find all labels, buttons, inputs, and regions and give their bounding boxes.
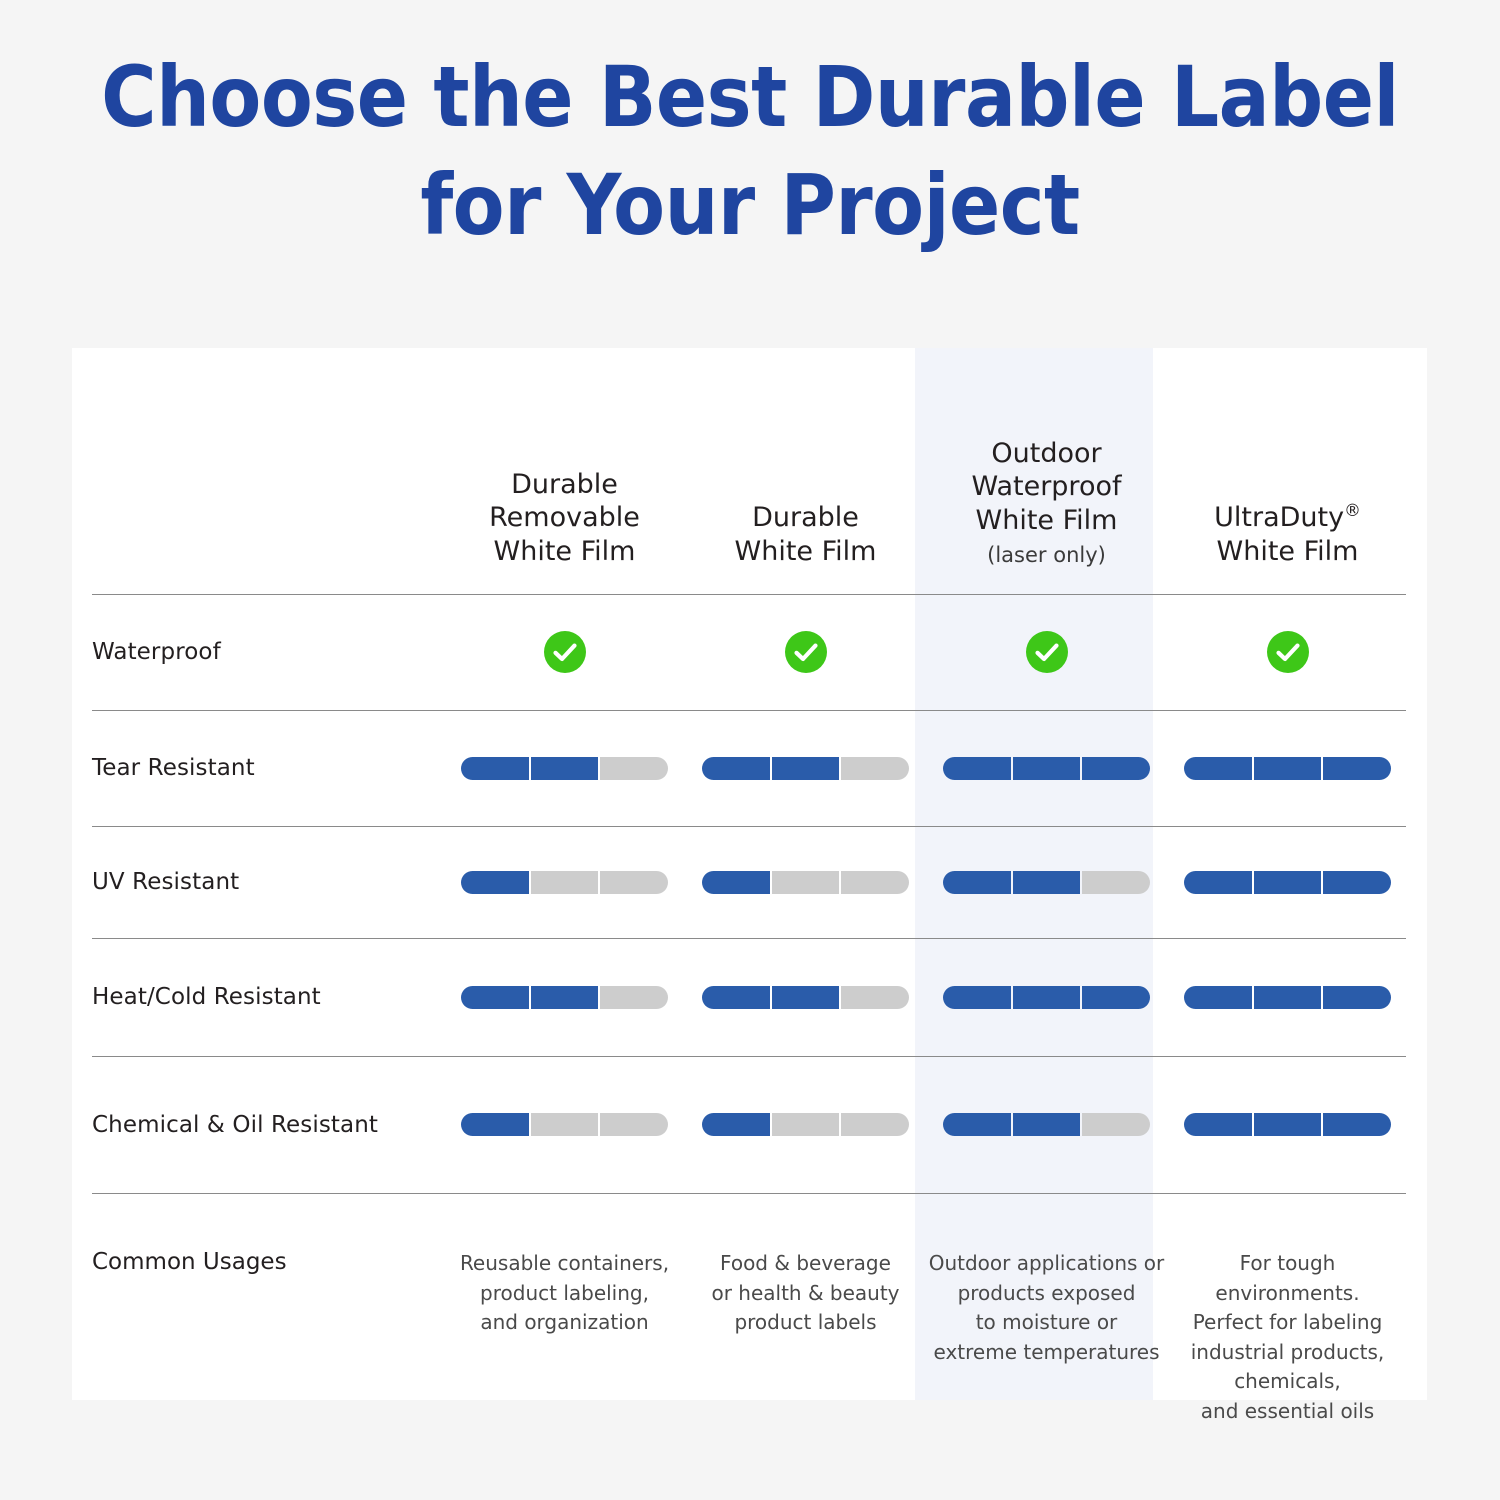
cell-heat-cold-resistant-col3 (926, 986, 1167, 1009)
cell-chemical-oil-resistant-col2 (685, 1113, 926, 1136)
row-label-heat-cold-resistant: Heat/Cold Resistant (92, 984, 444, 1010)
cell-waterproof-col4 (1167, 631, 1408, 673)
cell-uv-resistant-col4 (1167, 871, 1408, 894)
rating-bar (702, 757, 909, 780)
check-circle-icon (544, 631, 586, 673)
rating-bar (461, 871, 668, 894)
rating-bar (1184, 1113, 1391, 1136)
comparison-infographic: Choose the Best Durable Label for Your P… (0, 0, 1500, 1500)
column-header-line: White Film (735, 536, 877, 567)
column-header-line: Outdoor (991, 438, 1101, 469)
row-label-tear-resistant: Tear Resistant (92, 755, 444, 781)
cell-heat-cold-resistant-col1 (444, 986, 685, 1009)
comparison-table-card: Durable Removable White Film Durable Whi… (72, 348, 1427, 1400)
cell-tear-resistant-col2 (685, 757, 926, 780)
row-label-uv-resistant: UV Resistant (92, 869, 444, 895)
page-title: Choose the Best Durable Label for Your P… (0, 44, 1500, 259)
row-label-common-usages: Common Usages (92, 1193, 444, 1275)
cell-tear-resistant-col4 (1167, 757, 1408, 780)
rating-bar (943, 986, 1150, 1009)
rating-bar (943, 1113, 1150, 1136)
cell-heat-cold-resistant-col4 (1167, 986, 1408, 1009)
table-row-uv-resistant: UV Resistant (92, 826, 1406, 938)
cell-waterproof-col1 (444, 631, 685, 673)
page-title-line-1: Choose the Best Durable Label (0, 44, 1500, 152)
check-circle-icon (1026, 631, 1068, 673)
cell-common-usages-col1: Reusable containers, product labeling, a… (444, 1193, 685, 1338)
cell-chemical-oil-resistant-col1 (444, 1113, 685, 1136)
row-label-waterproof: Waterproof (92, 639, 444, 665)
column-header-line: White Film (494, 536, 636, 567)
column-header-note: (laser only) (926, 542, 1167, 568)
rating-bar (702, 986, 909, 1009)
cell-waterproof-col2 (685, 631, 926, 673)
rating-bar (1184, 757, 1391, 780)
row-label-chemical-oil-resistant: Chemical & Oil Resistant (92, 1112, 444, 1138)
page-title-line-2: for Your Project (0, 152, 1500, 260)
cell-tear-resistant-col1 (444, 757, 685, 780)
rating-bar (702, 1113, 909, 1136)
table-row-common-usages: Common Usages Reusable containers, produ… (92, 1193, 1406, 1427)
rating-bar (702, 871, 909, 894)
rating-bar (461, 1113, 668, 1136)
column-header-line: Durable (752, 502, 859, 533)
column-header-line: Waterproof (971, 471, 1121, 502)
column-header-durable-removable-white-film: Durable Removable White Film (444, 468, 685, 594)
table-row-tear-resistant: Tear Resistant (92, 710, 1406, 826)
cell-uv-resistant-col3 (926, 871, 1167, 894)
check-circle-icon (1267, 631, 1309, 673)
cell-uv-resistant-col1 (444, 871, 685, 894)
table-row-waterproof: Waterproof (92, 594, 1406, 710)
rating-bar (943, 757, 1150, 780)
cell-uv-resistant-col2 (685, 871, 926, 894)
rating-bar (943, 871, 1150, 894)
rating-bar (1184, 986, 1391, 1009)
rating-bar (461, 757, 668, 780)
table-row-chemical-oil-resistant: Chemical & Oil Resistant (92, 1056, 1406, 1193)
column-header-ultraduty-white-film: UltraDuty® White Film (1167, 501, 1408, 594)
rating-bar (461, 986, 668, 1009)
column-header-line: UltraDuty® (1214, 502, 1361, 533)
column-header-line: White Film (976, 505, 1118, 536)
cell-chemical-oil-resistant-col4 (1167, 1113, 1408, 1136)
cell-chemical-oil-resistant-col3 (926, 1113, 1167, 1136)
cell-tear-resistant-col3 (926, 757, 1167, 780)
comparison-table: Durable Removable White Film Durable Whi… (72, 348, 1427, 1400)
column-header-outdoor-waterproof-white-film: Outdoor Waterproof White Film (laser onl… (926, 437, 1167, 594)
column-header-line: Durable Removable (489, 469, 640, 533)
check-circle-icon (785, 631, 827, 673)
cell-waterproof-col3 (926, 631, 1167, 673)
cell-common-usages-col3: Outdoor applications or products exposed… (926, 1193, 1167, 1367)
rating-bar (1184, 871, 1391, 894)
table-header-row: Durable Removable White Film Durable Whi… (92, 378, 1406, 594)
cell-common-usages-col4: For tough environments. Perfect for labe… (1167, 1193, 1408, 1427)
table-row-heat-cold-resistant: Heat/Cold Resistant (92, 938, 1406, 1056)
cell-common-usages-col2: Food & beverage or health & beauty produ… (685, 1193, 926, 1338)
column-header-line: White Film (1217, 536, 1359, 567)
cell-heat-cold-resistant-col2 (685, 986, 926, 1009)
column-header-durable-white-film: Durable White Film (685, 501, 926, 594)
